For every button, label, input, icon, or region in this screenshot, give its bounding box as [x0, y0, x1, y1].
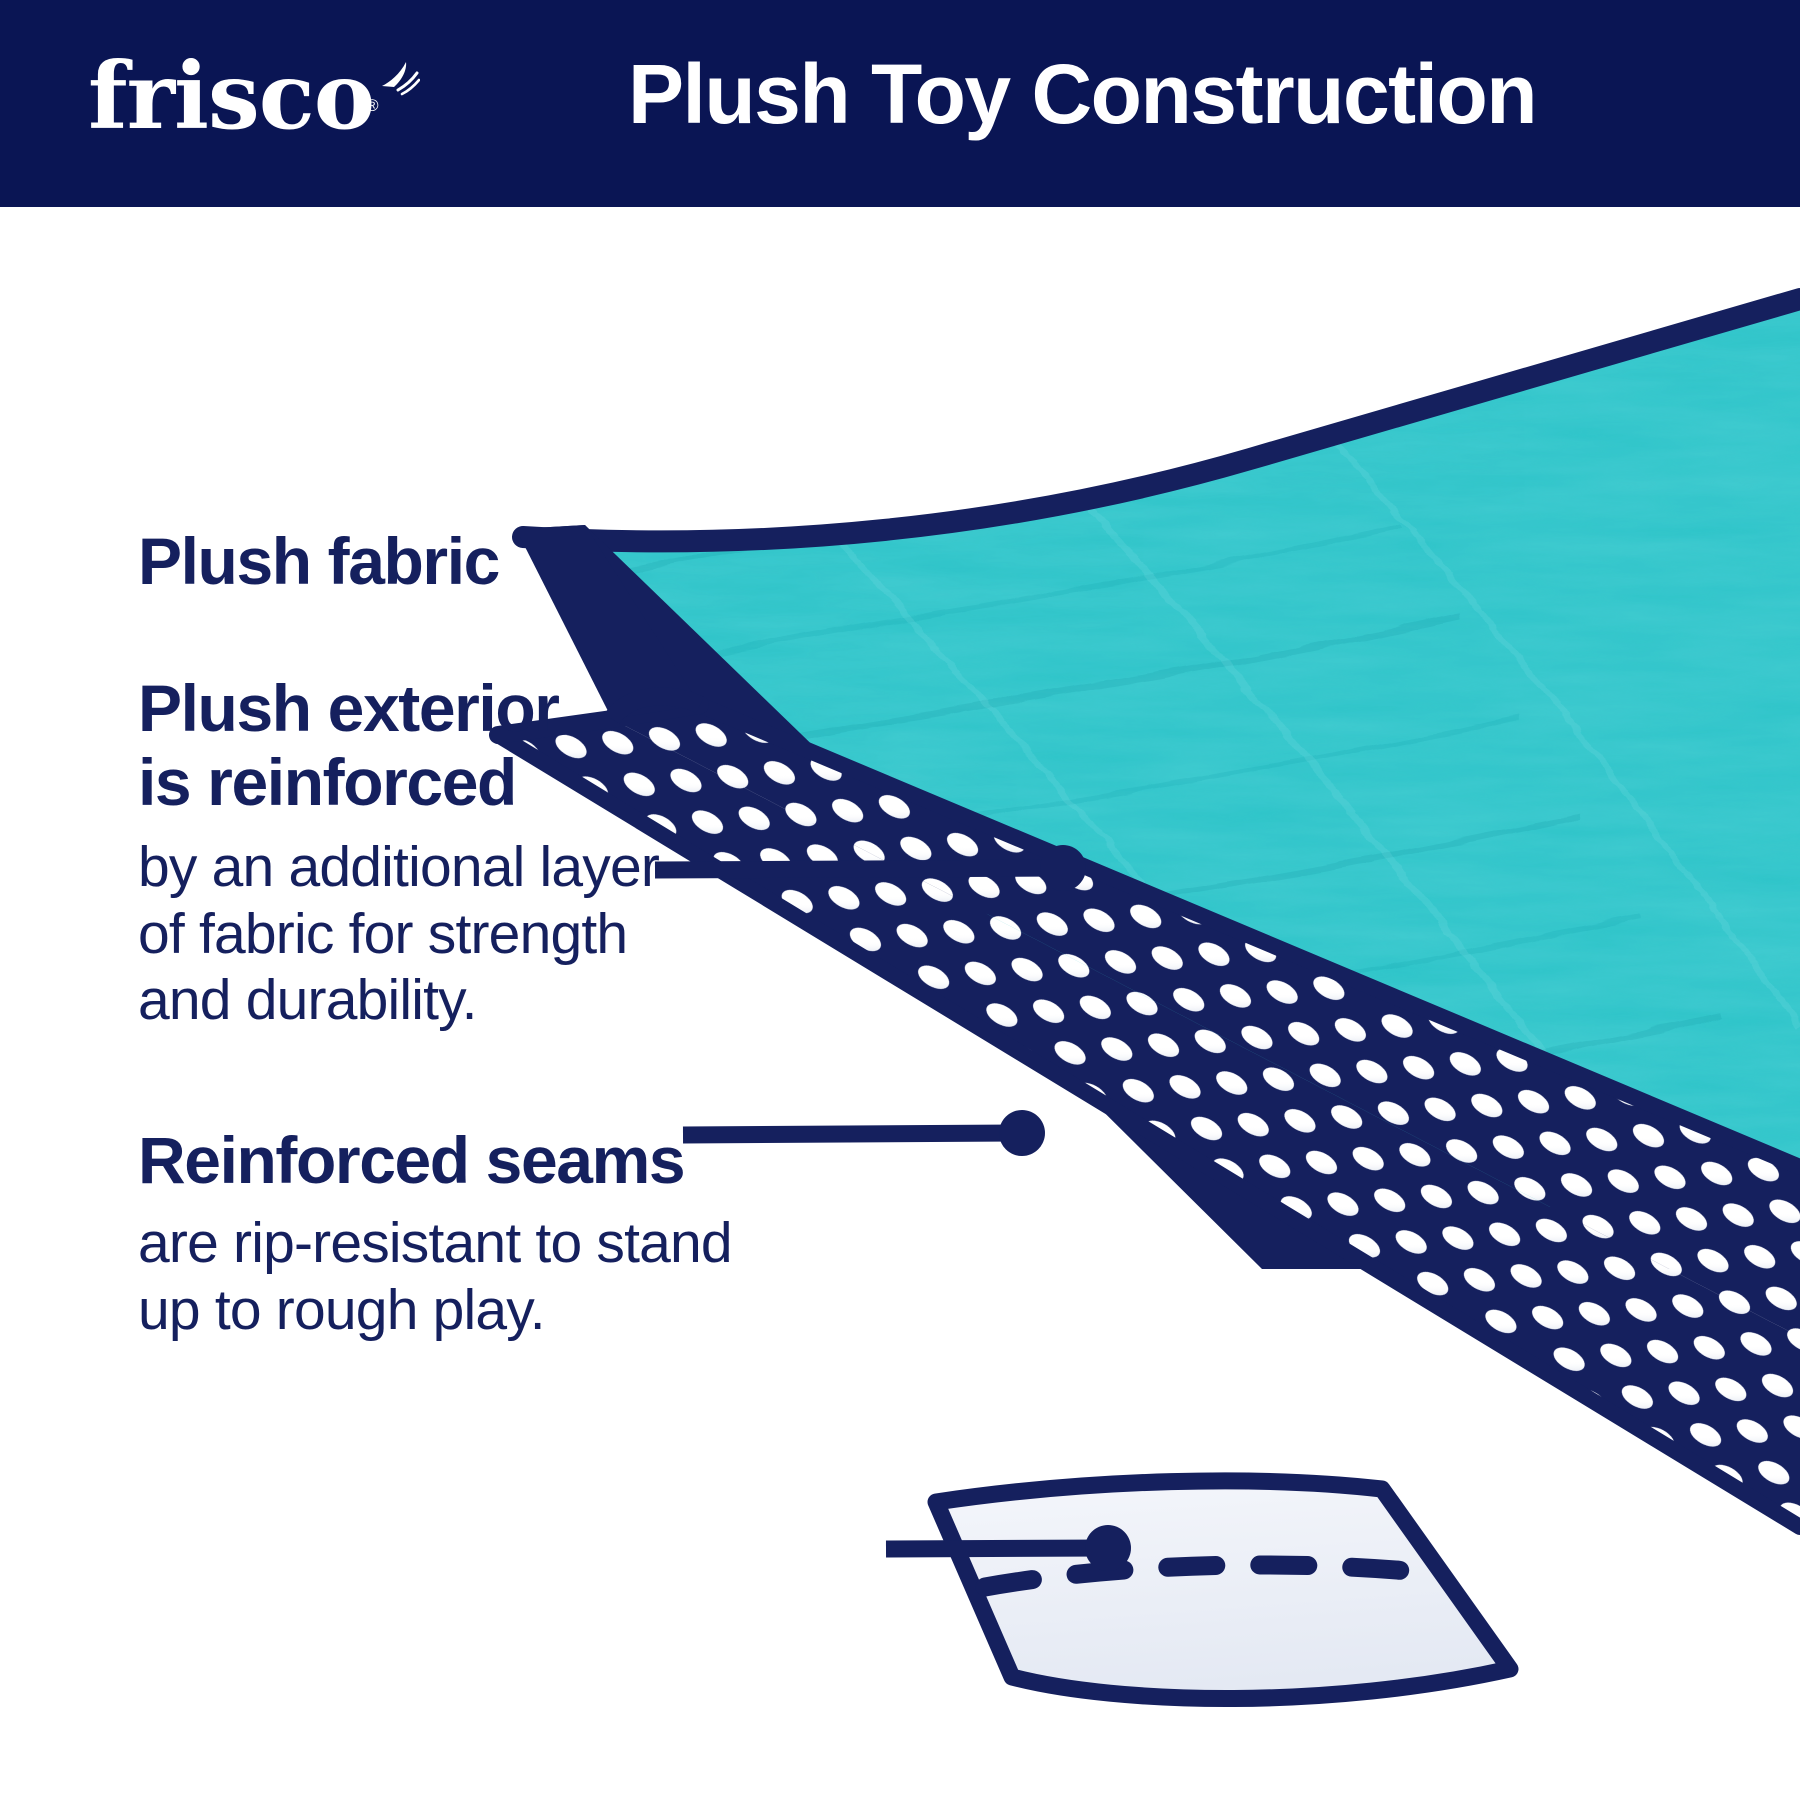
logo-flourish-icon [380, 56, 420, 96]
infographic-page: frisco ® Plush Toy Construction [0, 0, 1800, 1800]
registered-trademark-mark: ® [366, 96, 379, 116]
callout-reinforced-seams: Reinforced seams are rip-resistant to st… [138, 1124, 732, 1343]
header-bar: frisco ® Plush Toy Construction [0, 0, 1800, 207]
leader-line-plush-fabric [655, 868, 1063, 870]
leader-line-reinforced-seams [886, 1548, 1108, 1549]
leader-dot-plush-fabric [1040, 845, 1086, 891]
leader-line-plush-exterior [683, 1133, 1022, 1135]
leader-dot-plush-exterior [999, 1110, 1045, 1156]
callout-reinforced-seams-body: are rip-resistant to stand up to rough p… [138, 1210, 732, 1343]
leader-dot-reinforced-seams [1085, 1525, 1131, 1571]
seam-flap-layer [936, 1481, 1510, 1699]
callout-plush-exterior-body: by an additional layer of fabric for str… [138, 834, 659, 1034]
page-title: Plush Toy Construction [628, 46, 1536, 143]
frisco-logo: frisco [88, 50, 374, 142]
callout-plush-fabric-headline: Plush fabric [138, 525, 499, 599]
callout-reinforced-seams-headline: Reinforced seams [138, 1124, 732, 1198]
callout-plush-exterior-headline: Plush exterior is reinforced [138, 672, 659, 820]
callout-plush-exterior: Plush exterior is reinforced by an addit… [138, 672, 659, 1034]
callout-plush-fabric: Plush fabric [138, 525, 499, 599]
frisco-logo-text: frisco [88, 42, 374, 150]
